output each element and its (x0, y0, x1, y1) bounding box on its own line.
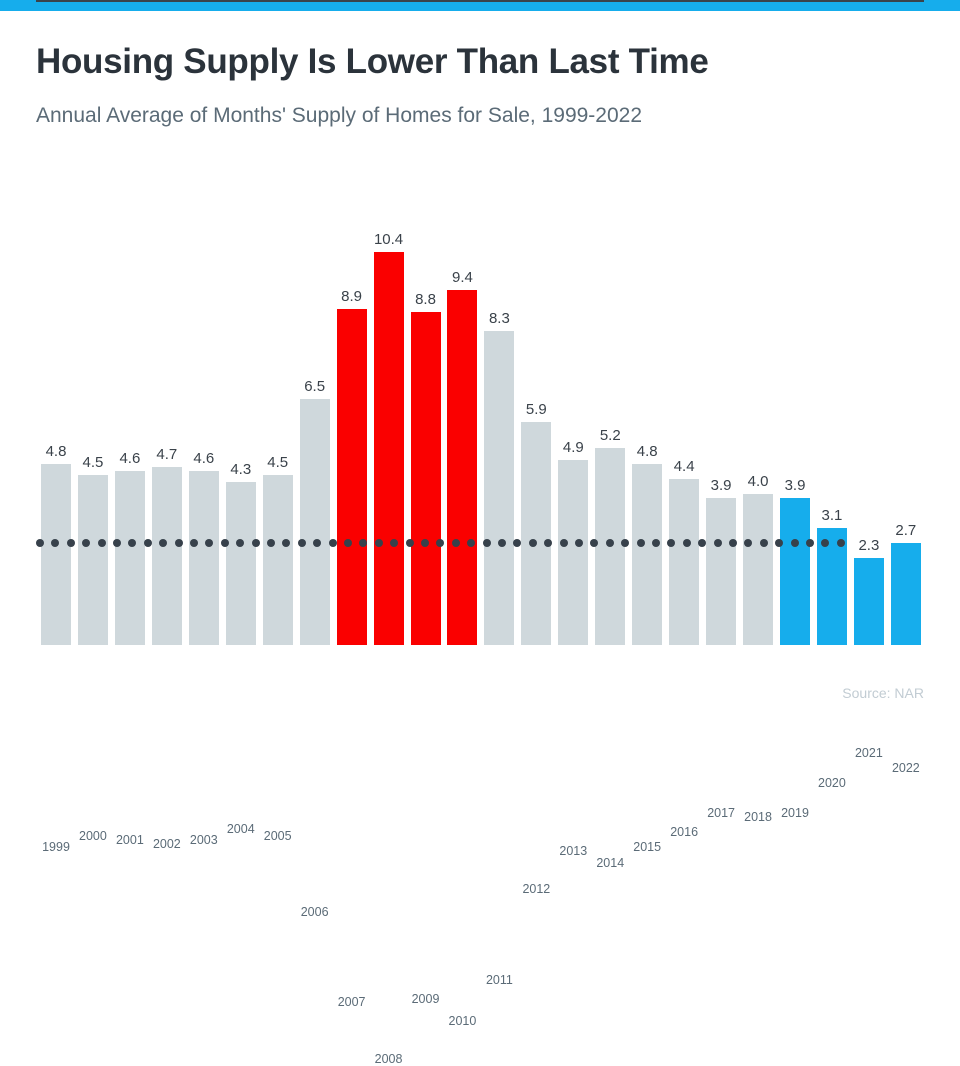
bar[interactable] (854, 558, 884, 645)
bar-group[interactable]: 4.92013 (558, 460, 588, 645)
bar-group[interactable]: 4.72002 (152, 467, 182, 645)
bar-value-label: 4.4 (654, 458, 714, 475)
bar-value-label: 10.4 (359, 231, 419, 248)
threshold-dot (236, 539, 244, 547)
bar-group[interactable]: 4.42016 (669, 479, 699, 645)
bar[interactable] (411, 312, 441, 645)
threshold-dot (298, 539, 306, 547)
bar[interactable] (706, 498, 736, 645)
bar[interactable] (558, 460, 588, 645)
threshold-dot (375, 539, 383, 547)
bar-group[interactable]: 4.81999 (41, 464, 71, 645)
bar-group[interactable]: 9.42010 (447, 290, 477, 645)
bar[interactable] (447, 290, 477, 645)
bar-group[interactable]: 4.62001 (115, 471, 145, 645)
threshold-dot (637, 539, 645, 547)
threshold-dot (729, 539, 737, 547)
bar[interactable] (632, 464, 662, 645)
threshold-dot (113, 539, 121, 547)
threshold-dot (313, 539, 321, 547)
threshold-dot (82, 539, 90, 547)
bar[interactable] (484, 331, 514, 645)
bar[interactable] (300, 399, 330, 645)
threshold-dot (667, 539, 675, 547)
x-axis-baseline (36, 0, 924, 2)
threshold-dot (513, 539, 521, 547)
x-tick-label: 2006 (285, 905, 345, 919)
threshold-dot (467, 539, 475, 547)
x-tick-label: 2016 (654, 825, 714, 839)
threshold-dot (590, 539, 598, 547)
bar[interactable] (226, 482, 256, 645)
bar-group[interactable]: 2.32021 (854, 558, 884, 645)
bar-group[interactable]: 4.02018 (743, 494, 773, 645)
threshold-dot (698, 539, 706, 547)
threshold-dot (159, 539, 167, 547)
threshold-dot (67, 539, 75, 547)
threshold-dot (390, 539, 398, 547)
threshold-dot (344, 539, 352, 547)
threshold-dot (544, 539, 552, 547)
bar-value-label: 3.9 (765, 477, 825, 494)
threshold-dot (714, 539, 722, 547)
threshold-dot (652, 539, 660, 547)
x-tick-label: 2020 (802, 776, 862, 790)
bar-group[interactable]: 8.92007 (337, 309, 367, 645)
threshold-dot (98, 539, 106, 547)
threshold-dot (252, 539, 260, 547)
threshold-dot (36, 539, 44, 547)
threshold-dot (683, 539, 691, 547)
threshold-dot (483, 539, 491, 547)
bar[interactable] (78, 475, 108, 645)
threshold-dot (452, 539, 460, 547)
bar[interactable] (263, 475, 293, 645)
bar-group[interactable]: 4.32004 (226, 482, 256, 645)
x-tick-label: 2007 (322, 995, 382, 1009)
bar-group[interactable]: 2.72022 (891, 543, 921, 645)
threshold-dot (205, 539, 213, 547)
bar-group[interactable]: 8.32011 (484, 331, 514, 645)
x-tick-label: 2009 (396, 992, 456, 1006)
threshold-dot (775, 539, 783, 547)
bar-group[interactable]: 6.52006 (300, 399, 330, 645)
x-tick-label: 2022 (876, 761, 936, 775)
bar-group[interactable]: 8.82009 (411, 312, 441, 645)
threshold-dot (744, 539, 752, 547)
threshold-dot (621, 539, 629, 547)
bar[interactable] (41, 464, 71, 645)
threshold-dot (329, 539, 337, 547)
bar-group[interactable]: 4.82015 (632, 464, 662, 645)
threshold-dot (436, 539, 444, 547)
bar[interactable] (152, 467, 182, 645)
x-tick-label: 2015 (617, 840, 677, 854)
threshold-dot (529, 539, 537, 547)
threshold-dot (421, 539, 429, 547)
threshold-dot (144, 539, 152, 547)
bar-group[interactable]: 3.92017 (706, 498, 736, 645)
x-tick-label: 2005 (248, 829, 308, 843)
bar-chart-plot-area: 4.819994.520004.620014.720024.620034.320… (0, 0, 960, 720)
x-tick-label: 2021 (839, 746, 899, 760)
threshold-dot (221, 539, 229, 547)
threshold-dot (267, 539, 275, 547)
bar[interactable] (669, 479, 699, 645)
threshold-dot (51, 539, 59, 547)
threshold-dot (175, 539, 183, 547)
threshold-dot (282, 539, 290, 547)
x-tick-label: 2008 (359, 1052, 419, 1066)
bar-value-label: 3.1 (802, 507, 862, 524)
bar[interactable] (337, 309, 367, 645)
bar[interactable] (743, 494, 773, 645)
bar[interactable] (115, 471, 145, 645)
threshold-dot (498, 539, 506, 547)
bar-value-label: 5.9 (506, 401, 566, 418)
bar-value-label: 8.3 (469, 310, 529, 327)
x-tick-label: 2011 (469, 973, 529, 987)
bar[interactable] (374, 252, 404, 645)
x-tick-label: 2010 (432, 1014, 492, 1028)
threshold-dot (359, 539, 367, 547)
bar-value-label: 2.7 (876, 522, 936, 539)
bar-group[interactable]: 4.62003 (189, 471, 219, 645)
threshold-dot (560, 539, 568, 547)
bar-value-label: 9.4 (432, 269, 492, 286)
x-tick-label: 2012 (506, 882, 566, 896)
bar-group[interactable]: 10.42008 (374, 252, 404, 645)
x-tick-label: 2019 (765, 806, 825, 820)
threshold-dot (406, 539, 414, 547)
threshold-dot (821, 539, 829, 547)
bar[interactable] (891, 543, 921, 645)
threshold-dot (128, 539, 136, 547)
bar-group[interactable]: 4.52005 (263, 475, 293, 645)
threshold-dot (837, 539, 845, 547)
threshold-dot (806, 539, 814, 547)
threshold-dot (575, 539, 583, 547)
x-tick-label: 2014 (580, 856, 640, 870)
bar[interactable] (189, 471, 219, 645)
threshold-dot (791, 539, 799, 547)
bar-group[interactable]: 4.52000 (78, 475, 108, 645)
threshold-dotted-line (36, 539, 846, 547)
threshold-dot (760, 539, 768, 547)
source-note: Source: NAR (842, 685, 924, 701)
threshold-dot (190, 539, 198, 547)
threshold-dot (606, 539, 614, 547)
